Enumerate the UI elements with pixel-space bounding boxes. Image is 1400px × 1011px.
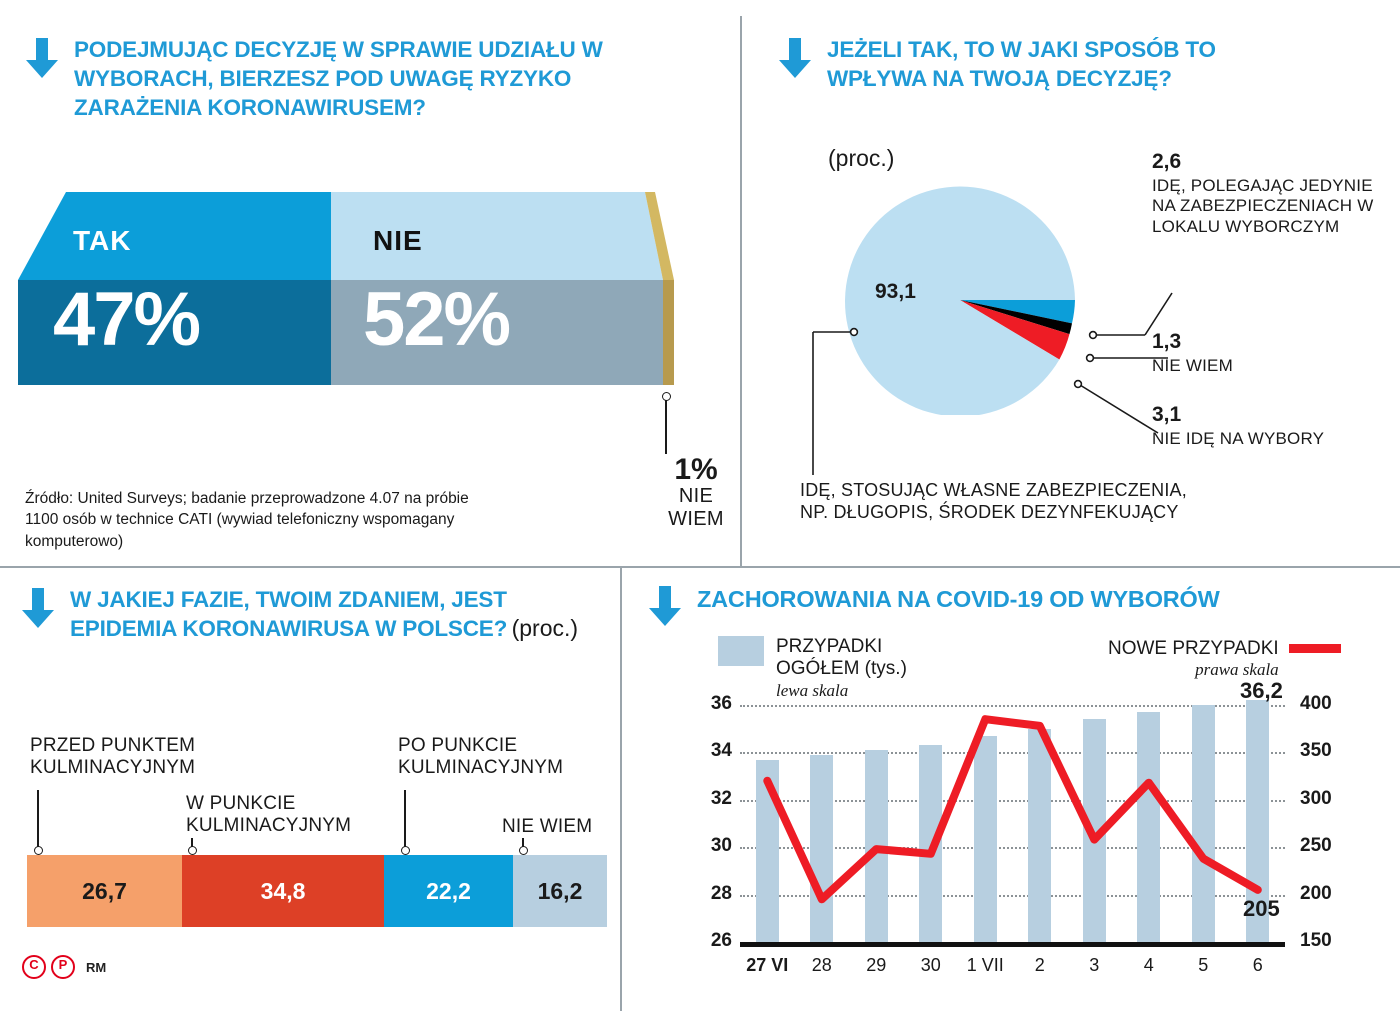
stack-leader-dot-3 [519,846,528,855]
new-cases-line [740,705,1285,942]
legend-bars: PRZYPADKI OGÓŁEM (tys.) lewa skala [718,636,907,701]
pie-label-idę-polegając: IDĘ, POLEGAJĄC JEDYNIE NA ZABEZPIECZENIA… [1152,176,1387,237]
legend-bar-text: PRZYPADKI OGÓŁEM (tys.) lewa skala [776,636,907,701]
y-left-tick-26: 26 [700,930,732,952]
q3-header: W JAKIEJ FAZIE, TWOIM ZDANIEM, JEST EPID… [18,586,608,644]
legend-bar-line1: PRZYPADKI [776,636,907,658]
legend-line-text: NOWE PRZYPADKI prawa skala [1108,638,1279,680]
panel-question-3: W JAKIEJ FAZIE, TWOIM ZDANIEM, JEST EPID… [18,586,608,696]
x-tick-1: 28 [795,955,850,976]
y-right-tick-300: 300 [1300,788,1332,810]
stack-label-w-punkcie: W PUNKCIE KULMINACYJNYM [186,793,396,838]
pie-callout-nie-idę: 3,1 NIE IDĘ NA WYBORY [1152,403,1352,449]
x-tick-6: 3 [1067,955,1122,976]
y-right-tick-200: 200 [1300,883,1332,905]
pie-value-26: 2,6 [1152,150,1387,174]
pie-callout-idę-polegając: 2,6 IDĘ, POLEGAJĄC JEDYNIE NA ZABEZPIECZ… [1152,150,1387,237]
stack-value-nie-wiem: 16,2 [538,878,583,905]
copyright-c-icon: C [22,955,46,979]
niewiem-leader-line [665,398,667,454]
q3-title-wrap: W JAKIEJ FAZIE, TWOIM ZDANIEM, JEST EPID… [70,586,600,644]
y-left-tick-30: 30 [700,835,732,857]
x-tick-4: 1 VII [958,955,1013,976]
y-right-tick-150: 150 [1300,930,1332,952]
q1-title: PODEJMUJĄC DECYZJĘ W SPRAWIE UDZIAŁU W W… [74,36,704,122]
x-tick-3: 30 [904,955,959,976]
covid-combo-chart [740,705,1285,942]
y-left-tick-28: 28 [700,883,732,905]
legend-bar-swatch [718,636,764,666]
gridline-26 [740,942,1285,947]
pie-value-931: 93,1 [875,280,916,304]
stack-seg-przed: 26,7 [27,855,182,927]
y-right-tick-250: 250 [1300,835,1332,857]
stack-value-przed: 26,7 [82,878,127,905]
niewiem-label-line2: WIEM [636,508,756,531]
stack-seg-nie-wiem: 16,2 [513,855,607,927]
author-initials: RM [86,960,106,975]
faza-epidemii-stacked-bar: 26,7 34,8 22,2 16,2 [27,855,607,927]
pie-callout-nie-wiem: 1,3 NIE WIEM [1152,330,1352,376]
q3-unit: (proc.) [512,615,578,641]
q1-header: PODEJMUJĄC DECYZJĘ W SPRAWIE UDZIAŁU W W… [22,36,722,122]
niewiem-leader-dot [662,392,671,401]
pie-chart: 93,1 [845,185,1075,415]
x-tick-0: 27 VI [740,955,795,976]
stack-label-przed: PRZED PUNKTEM KULMINACYJNYM [30,735,230,780]
q2-unit: (proc.) [828,145,894,172]
pie-callout-idę-stosując: IDĘ, STOSUJĄC WŁASNE ZABEZPIECZENIA, NP.… [800,480,1200,523]
pie-label-nie-wiem: NIE WIEM [1152,356,1352,376]
y-left-tick-34: 34 [700,740,732,762]
arrow-down-icon [775,36,815,80]
y-left-tick-36: 36 [700,693,732,715]
divider-horizontal [0,566,1400,568]
stack-leader-2 [404,790,406,848]
pie-value-13: 1,3 [1152,330,1352,354]
q4-header: ZACHOROWANIA NA COVID-19 OD WYBORÓW [645,584,1395,628]
x-tick-9: 6 [1231,955,1286,976]
x-tick-2: 29 [849,955,904,976]
niewiem-label-line1: NIE [636,485,756,508]
pie-label-idę-stosując: IDĘ, STOSUJĄC WŁASNE ZABEZPIECZENIA, NP.… [800,480,1200,523]
annotation-new-last: 205 [1243,896,1280,922]
pie-label-nie-idę: NIE IDĘ NA WYBORY [1152,429,1352,449]
stack-seg-po-punkcie: 22,2 [384,855,513,927]
stack-seg-w-punkcie: 34,8 [182,855,384,927]
legend-line: NOWE PRZYPADKI prawa skala [1108,638,1341,680]
nie-label: NIE [373,225,423,257]
stack-leader-dot-1 [188,846,197,855]
annotation-total-last: 36,2 [1240,678,1283,704]
arrow-down-icon [645,584,685,628]
niewiem-callout: 1% NIE WIEM [636,455,756,531]
legend-bar-line2: OGÓŁEM (tys.) [776,658,907,680]
y-left-tick-32: 32 [700,788,732,810]
pie-value-31: 3,1 [1152,403,1352,427]
q3-title: W JAKIEJ FAZIE, TWOIM ZDANIEM, JEST EPID… [70,587,507,641]
stack-label-nie-wiem: NIE WIEM [502,816,632,838]
stack-leader-dot-2 [401,846,410,855]
nie-value: 52% [363,280,509,360]
tak-label: TAK [73,225,131,257]
stack-value-po-punkcie: 22,2 [426,878,471,905]
tak-nie-3d-bar-chart: TAK NIE 47% 52% [18,180,708,395]
panel-question-4: ZACHOROWANIA NA COVID-19 OD WYBORÓW [645,584,1395,644]
stack-value-w-punkcie: 34,8 [261,878,306,905]
copyright-block: C P RM [22,955,106,979]
x-tick-8: 5 [1176,955,1231,976]
q2-header: JEŻELI TAK, TO W JAKI SPOSÓB TO WPŁYWA N… [775,36,1375,94]
q4-title: ZACHOROWANIA NA COVID-19 OD WYBORÓW [697,584,1395,614]
y-right-tick-350: 350 [1300,740,1332,762]
niewiem-value: 1% [636,455,756,485]
tak-top-face [18,192,331,280]
q2-title: JEŻELI TAK, TO W JAKI SPOSÓB TO WPŁYWA N… [827,36,1297,94]
stack-leader-0 [37,790,39,848]
legend-bar-scale: lewa skala [776,681,907,701]
legend-line-swatch [1289,644,1341,653]
x-tick-7: 4 [1122,955,1177,976]
divider-vertical-bottom [620,568,622,1011]
stack-leader-dot-0 [34,846,43,855]
arrow-down-icon [22,36,62,80]
stack-label-po-punkcie: PO PUNKCIE KULMINACYJNYM [398,735,598,780]
copyright-p-icon: P [51,955,75,979]
source-note: Źródło: United Surveys; badanie przeprow… [25,488,495,552]
arrow-down-icon [18,586,58,630]
niewiem-front-face [663,280,674,385]
tak-value: 47% [53,280,199,360]
legend-line-label: NOWE PRZYPADKI [1108,638,1279,660]
x-tick-5: 2 [1013,955,1068,976]
y-right-tick-400: 400 [1300,693,1332,715]
